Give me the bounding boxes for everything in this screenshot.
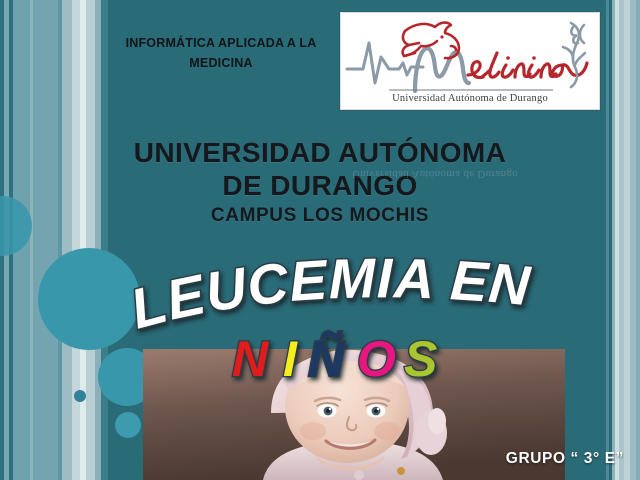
- university-name-line1: UNIVERSIDAD AUTÓNOMA: [0, 136, 640, 169]
- campus-name: CAMPUS LOS MOCHIS: [0, 202, 640, 229]
- group-label: GRUPO “ 3° E”: [506, 450, 624, 468]
- university-name-line2: DE DURANGO: [0, 169, 640, 202]
- logo-caption: Universidad Autónoma de Durango: [341, 93, 599, 104]
- logo-wordmark-text: [468, 53, 587, 78]
- child-photo-artwork: [143, 349, 565, 480]
- course-title-line2: MEDICINA: [86, 53, 356, 73]
- decorative-circle: [74, 390, 86, 402]
- right-stripe-decoration: [600, 0, 640, 480]
- decorative-circle: [115, 412, 141, 438]
- course-title: INFORMÁTICA APLICADA A LA MEDICINA: [86, 33, 356, 73]
- decorative-circle: [38, 248, 140, 350]
- ekg-line-icon: [347, 43, 423, 83]
- university-name-block: UNIVERSIDAD AUTÓNOMA DE DURANGO CAMPUS L…: [0, 136, 640, 229]
- logo-wordmark-m: [415, 48, 469, 91]
- course-title-line1: INFORMÁTICA APLICADA A LA: [86, 33, 356, 53]
- caduceus-icon: [563, 23, 585, 87]
- university-logo: Universidad Autónoma de Durango: [340, 12, 600, 110]
- presentation-slide: INFORMÁTICA APLICADA A LA MEDICINA: [0, 0, 640, 480]
- child-photo: [143, 349, 565, 480]
